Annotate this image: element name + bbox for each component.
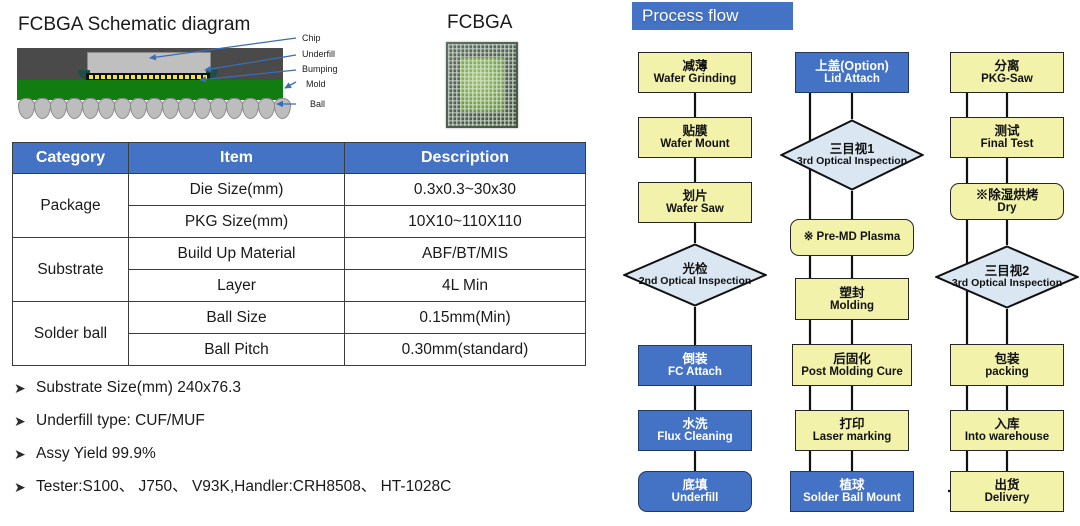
bullet-arrow-icon: ➤ xyxy=(14,477,36,497)
cell-description: 10X10~110X110 xyxy=(345,206,586,238)
node-label-en: ※ Pre-MD Plasma xyxy=(804,231,901,244)
node-label-cn: 上盖(Option) xyxy=(815,59,889,73)
table-row: Solder ball Ball Size 0.15mm(Min) xyxy=(13,302,586,334)
cell-description: 4L Min xyxy=(345,270,586,302)
cell-category: Solder ball xyxy=(13,302,129,366)
flow-node-3rd-optical-inspection-2[interactable]: 三目视2 3rd Optical Inspection xyxy=(935,245,1079,309)
node-label-cn: 划片 xyxy=(682,189,707,203)
flow-node-wafer-saw[interactable]: 划片 Wafer Saw xyxy=(638,182,752,223)
flow-node-delivery[interactable]: 出货 Delivery xyxy=(950,471,1064,512)
node-label-cn: 减薄 xyxy=(682,59,707,73)
node-label-en: Wafer Saw xyxy=(666,203,724,216)
node-label-en: Delivery xyxy=(985,492,1030,505)
node-label-cn: 贴膜 xyxy=(682,124,707,138)
node-label-en: 3rd Optical Inspection xyxy=(952,278,1062,290)
cell-item: Die Size(mm) xyxy=(129,174,345,206)
column-header-category: Category xyxy=(13,143,129,174)
list-item-label: Assy Yield 99.9% xyxy=(36,444,156,464)
node-label-en: 2nd Optical Inspection xyxy=(639,276,752,288)
cell-description: 0.15mm(Min) xyxy=(345,302,586,334)
list-item: ➤ Tester:S100、 J750、 V93K,Handler:CRH850… xyxy=(14,477,594,497)
cell-item: Ball Size xyxy=(129,302,345,334)
bullet-arrow-icon: ➤ xyxy=(14,378,36,398)
cell-category: Substrate xyxy=(13,238,129,302)
cell-category: Package xyxy=(13,174,129,238)
left-panel: FCBGA Schematic diagram xyxy=(0,0,600,526)
slide-root: FCBGA Schematic diagram xyxy=(0,0,1080,526)
flow-node-2nd-optical-inspection[interactable]: 光检 2nd Optical Inspection xyxy=(623,243,767,307)
node-label-en: Dry xyxy=(997,202,1016,215)
list-item: ➤ Assy Yield 99.9% xyxy=(14,444,594,464)
list-item-label: Underfill type: CUF/MUF xyxy=(36,411,205,431)
cell-description: 0.3x0.3~30x30 xyxy=(345,174,586,206)
table-header-row: Category Item Description xyxy=(13,143,586,174)
node-label-cn: 底填 xyxy=(682,478,707,492)
node-label-cn: 三目视2 xyxy=(985,264,1029,278)
process-flow-panel: Process flow xyxy=(600,0,1080,526)
flow-node-pre-md-plasma[interactable]: ※ Pre-MD Plasma xyxy=(790,219,914,256)
fcbga-package-photo xyxy=(446,42,518,128)
flow-node-lid-attach[interactable]: 上盖(Option) Lid Attach xyxy=(795,52,909,93)
cell-item: Build Up Material xyxy=(129,238,345,270)
node-label-cn: 打印 xyxy=(839,417,864,431)
column-header-description: Description xyxy=(345,143,586,174)
schematic-label-ball: Ball xyxy=(310,99,325,109)
node-label-en: Underfill xyxy=(672,492,719,505)
flow-node-final-test[interactable]: 测试 Final Test xyxy=(950,117,1064,158)
flow-node-post-molding-cure[interactable]: 后固化 Post Molding Cure xyxy=(792,344,912,386)
node-label-en: Lid Attach xyxy=(824,73,880,86)
node-label-en: PKG-Saw xyxy=(981,73,1033,86)
column-header-item: Item xyxy=(129,143,345,174)
schematic-label-chip: Chip xyxy=(302,33,321,43)
node-label-en: Wafer Mount xyxy=(660,138,729,151)
node-label-cn: 入库 xyxy=(994,417,1019,431)
node-label-cn: 出货 xyxy=(994,478,1019,492)
node-label-en: 3rd Optical Inspection xyxy=(797,156,907,168)
flow-node-into-warehouse[interactable]: 入库 Into warehouse xyxy=(950,410,1064,451)
flow-node-molding[interactable]: 塑封 Molding xyxy=(795,278,909,320)
flow-node-dry[interactable]: ※除湿烘烤 Dry xyxy=(950,183,1064,220)
node-label-en: Wafer Grinding xyxy=(654,73,737,86)
node-label-cn: 三目视1 xyxy=(830,142,874,156)
fcbga-photo-ball-grid xyxy=(448,44,516,126)
list-item: ➤ Underfill type: CUF/MUF xyxy=(14,411,594,431)
node-label-en: Into warehouse xyxy=(965,431,1049,444)
node-label-en: Final Test xyxy=(981,138,1034,151)
flow-node-wafer-grinding[interactable]: 减薄 Wafer Grinding xyxy=(638,52,752,93)
node-label-cn: 包装 xyxy=(994,352,1019,366)
node-label-cn: 光检 xyxy=(682,262,707,276)
node-label-cn: 分离 xyxy=(994,59,1019,73)
spec-table: Category Item Description Package Die Si… xyxy=(12,142,586,366)
schematic-label-underfill: Underfill xyxy=(302,49,335,59)
node-label-cn: 水洗 xyxy=(682,417,707,431)
flow-node-3rd-optical-inspection-1[interactable]: 三目视1 3rd Optical Inspection xyxy=(780,119,924,191)
node-label-en: Flux Cleaning xyxy=(657,431,732,444)
node-label-cn: 后固化 xyxy=(833,352,871,366)
cell-description: ABF/BT/MIS xyxy=(345,238,586,270)
schematic-label-mold: Mold xyxy=(306,79,326,89)
node-label-en: Molding xyxy=(830,300,874,313)
flow-node-flux-cleaning[interactable]: 水洗 Flux Cleaning xyxy=(638,410,752,451)
flow-node-solder-ball-mount[interactable]: 植球 Solder Ball Mount xyxy=(790,471,914,512)
flow-node-laser-marking[interactable]: 打印 Laser marking xyxy=(795,410,909,451)
node-label-cn: ※除湿烘烤 xyxy=(976,188,1039,202)
flow-node-wafer-mount[interactable]: 贴膜 Wafer Mount xyxy=(638,117,752,158)
schematic-label-bumping: Bumping xyxy=(302,64,338,74)
node-label-en: Solder Ball Mount xyxy=(803,492,901,505)
table-row: Substrate Build Up Material ABF/BT/MIS xyxy=(13,238,586,270)
table-row: Package Die Size(mm) 0.3x0.3~30x30 xyxy=(13,174,586,206)
node-label-en: FC Attach xyxy=(668,366,722,379)
cell-item: Ball Pitch xyxy=(129,334,345,366)
flow-node-packing[interactable]: 包装 packing xyxy=(950,344,1064,386)
node-label-en: Laser marking xyxy=(813,431,892,444)
bullet-list: ➤ Substrate Size(mm) 240x76.3 ➤ Underfil… xyxy=(14,378,594,510)
cell-item: Layer xyxy=(129,270,345,302)
node-label-en: packing xyxy=(985,366,1028,379)
node-label-cn: 塑封 xyxy=(839,286,864,300)
flow-node-pkg-saw[interactable]: 分离 PKG-Saw xyxy=(950,52,1064,93)
bullet-arrow-icon: ➤ xyxy=(14,444,36,464)
list-item-label: Substrate Size(mm) 240x76.3 xyxy=(36,378,241,398)
cell-description: 0.30mm(standard) xyxy=(345,334,586,366)
flow-node-underfill[interactable]: 底填 Underfill xyxy=(638,471,752,512)
node-label-en: Post Molding Cure xyxy=(801,366,903,379)
list-item: ➤ Substrate Size(mm) 240x76.3 xyxy=(14,378,594,398)
flow-node-fc-attach[interactable]: 倒装 FC Attach xyxy=(638,345,752,386)
list-item-label: Tester:S100、 J750、 V93K,Handler:CRH8508、… xyxy=(36,477,451,497)
node-label-cn: 植球 xyxy=(839,478,864,492)
cell-item: PKG Size(mm) xyxy=(129,206,345,238)
bullet-arrow-icon: ➤ xyxy=(14,411,36,431)
node-label-cn: 倒装 xyxy=(682,352,707,366)
fcbga-photo-title: FCBGA xyxy=(447,12,512,34)
node-label-cn: 测试 xyxy=(994,124,1019,138)
